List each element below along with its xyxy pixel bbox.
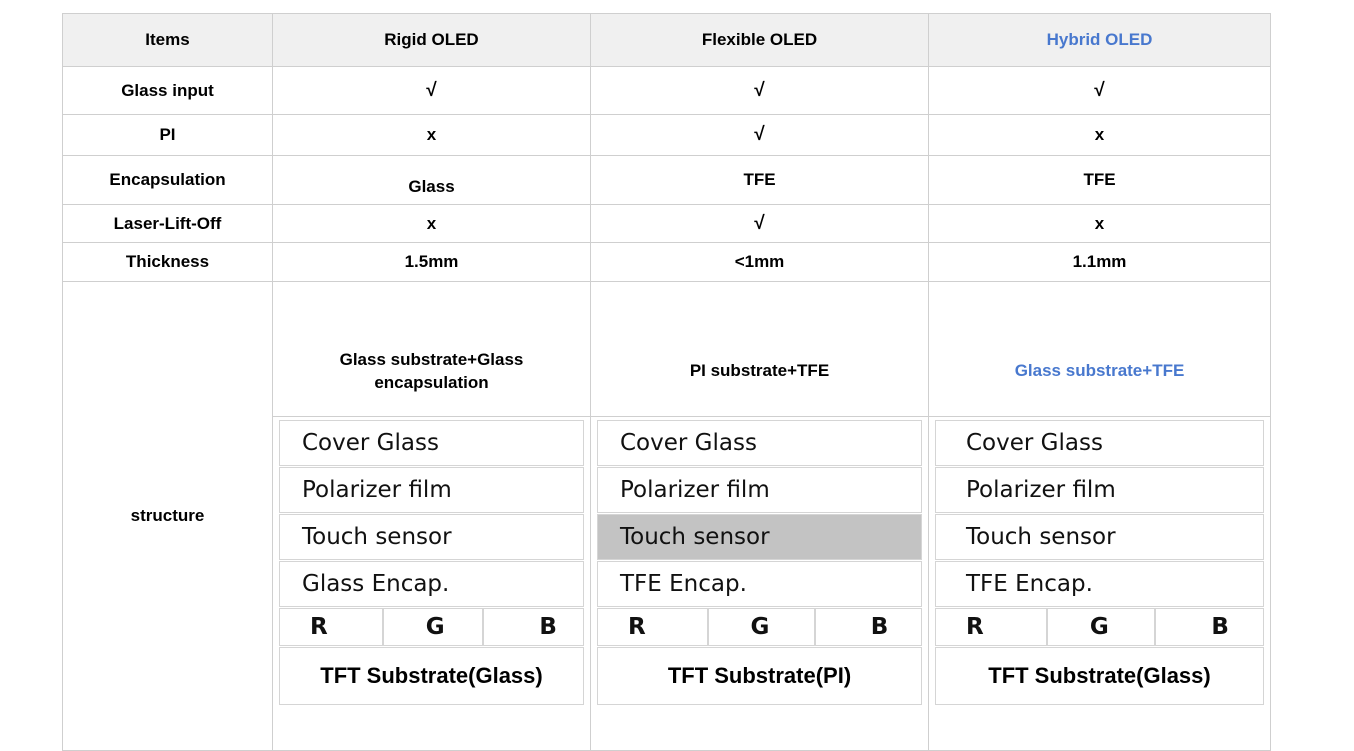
cell-pi-rigid: x [273, 115, 591, 156]
layer-polarizer-film: Polarizer film [279, 467, 584, 513]
subpixel-blue: B [483, 608, 584, 646]
layer-tft-substrate: TFT Substrate(Glass) [279, 647, 584, 705]
subpixel-green: G [1047, 608, 1156, 646]
subpixel-blue: B [815, 608, 922, 646]
row-label-glass-input: Glass input [63, 67, 273, 115]
layer-stack-flexible: Cover Glass Polarizer film Touch sensor … [591, 417, 928, 705]
row-label-thickness: Thickness [63, 243, 273, 282]
oled-comparison-table: Items Rigid OLED Flexible OLED Hybrid OL… [62, 13, 1271, 751]
cell-structure-flexible: PI substrate+TFE Cover Glass Polarizer f… [591, 282, 929, 751]
cell-thickness-hybrid: 1.1mm [929, 243, 1271, 282]
header-row: Items Rigid OLED Flexible OLED Hybrid OL… [63, 14, 1271, 67]
structure-description-rigid: Glass substrate+Glass encapsulation [273, 327, 590, 417]
subpixel-row-hybrid: R G B [935, 608, 1264, 646]
column-header-hybrid: Hybrid OLED [929, 14, 1271, 67]
cell-thickness-rigid: 1.5mm [273, 243, 591, 282]
subpixel-red: R [279, 608, 383, 646]
table-body: Glass input √ √ √ PI x √ x Encapsulation… [63, 67, 1271, 751]
value-text: √ [754, 124, 764, 145]
layer-touch-sensor: Touch sensor [935, 514, 1264, 560]
subpixel-blue: B [1155, 608, 1264, 646]
cell-pi-flexible: √ [591, 115, 929, 156]
cell-structure-hybrid: Glass substrate+TFE Cover Glass Polarize… [929, 282, 1271, 751]
value-text: √ [426, 80, 436, 101]
table-header: Items Rigid OLED Flexible OLED Hybrid OL… [63, 14, 1271, 67]
column-header-rigid: Rigid OLED [273, 14, 591, 67]
cell-glass-input-flexible: √ [591, 67, 929, 115]
cell-laser-lift-off-rigid: x [273, 205, 591, 243]
layer-tft-substrate: TFT Substrate(Glass) [935, 647, 1264, 705]
value-text: Glass [408, 177, 454, 197]
row-label-encapsulation: Encapsulation [63, 156, 273, 205]
table-row: Thickness 1.5mm <1mm 1.1mm [63, 243, 1271, 282]
table-row: Laser-Lift-Off x √ x [63, 205, 1271, 243]
table-row-structure: structure Glass substrate+Glass encapsul… [63, 282, 1271, 751]
column-header-items: Items [63, 14, 273, 67]
column-header-flexible: Flexible OLED [591, 14, 929, 67]
cell-laser-lift-off-hybrid: x [929, 205, 1271, 243]
subpixel-row-flexible: R G B [597, 608, 922, 646]
cell-encapsulation-flexible: TFE [591, 156, 929, 205]
table-row: PI x √ x [63, 115, 1271, 156]
subpixel-green: G [708, 608, 815, 646]
cell-pi-hybrid: x [929, 115, 1271, 156]
oled-comparison-table-wrapper: Items Rigid OLED Flexible OLED Hybrid OL… [62, 13, 1270, 744]
subpixel-red: R [935, 608, 1047, 646]
layer-encapsulation: TFE Encap. [935, 561, 1264, 607]
structure-description-flexible: PI substrate+TFE [591, 327, 928, 417]
layer-touch-sensor: Touch sensor [279, 514, 584, 560]
subpixel-green: G [383, 608, 484, 646]
layer-cover-glass: Cover Glass [597, 420, 922, 466]
cell-thickness-flexible: <1mm [591, 243, 929, 282]
cell-laser-lift-off-flexible: √ [591, 205, 929, 243]
cell-glass-input-rigid: √ [273, 67, 591, 115]
layer-tft-substrate: TFT Substrate(PI) [597, 647, 922, 705]
layer-polarizer-film: Polarizer film [597, 467, 922, 513]
cell-encapsulation-hybrid: TFE [929, 156, 1271, 205]
layer-encapsulation: TFE Encap. [597, 561, 922, 607]
row-label-structure: structure [63, 282, 273, 751]
cell-glass-input-hybrid: √ [929, 67, 1271, 115]
subpixel-row-rigid: R G B [279, 608, 584, 646]
value-text: √ [754, 213, 764, 234]
layer-touch-sensor: Touch sensor [597, 514, 922, 560]
row-label-laser-lift-off: Laser-Lift-Off [63, 205, 273, 243]
structure-description-hybrid: Glass substrate+TFE [929, 327, 1270, 417]
value-text: √ [1094, 80, 1104, 101]
layer-encapsulation: Glass Encap. [279, 561, 584, 607]
table-row: Glass input √ √ √ [63, 67, 1271, 115]
layer-polarizer-film: Polarizer film [935, 467, 1264, 513]
layer-stack-rigid: Cover Glass Polarizer film Touch sensor … [273, 417, 590, 705]
value-text: √ [754, 80, 764, 101]
cell-encapsulation-rigid: Glass [273, 156, 591, 205]
layer-cover-glass: Cover Glass [935, 420, 1264, 466]
row-label-pi: PI [63, 115, 273, 156]
subpixel-red: R [597, 608, 708, 646]
layer-cover-glass: Cover Glass [279, 420, 584, 466]
layer-stack-hybrid: Cover Glass Polarizer film Touch sensor … [929, 417, 1270, 705]
cell-structure-rigid: Glass substrate+Glass encapsulation Cove… [273, 282, 591, 751]
table-row: Encapsulation Glass TFE TFE [63, 156, 1271, 205]
